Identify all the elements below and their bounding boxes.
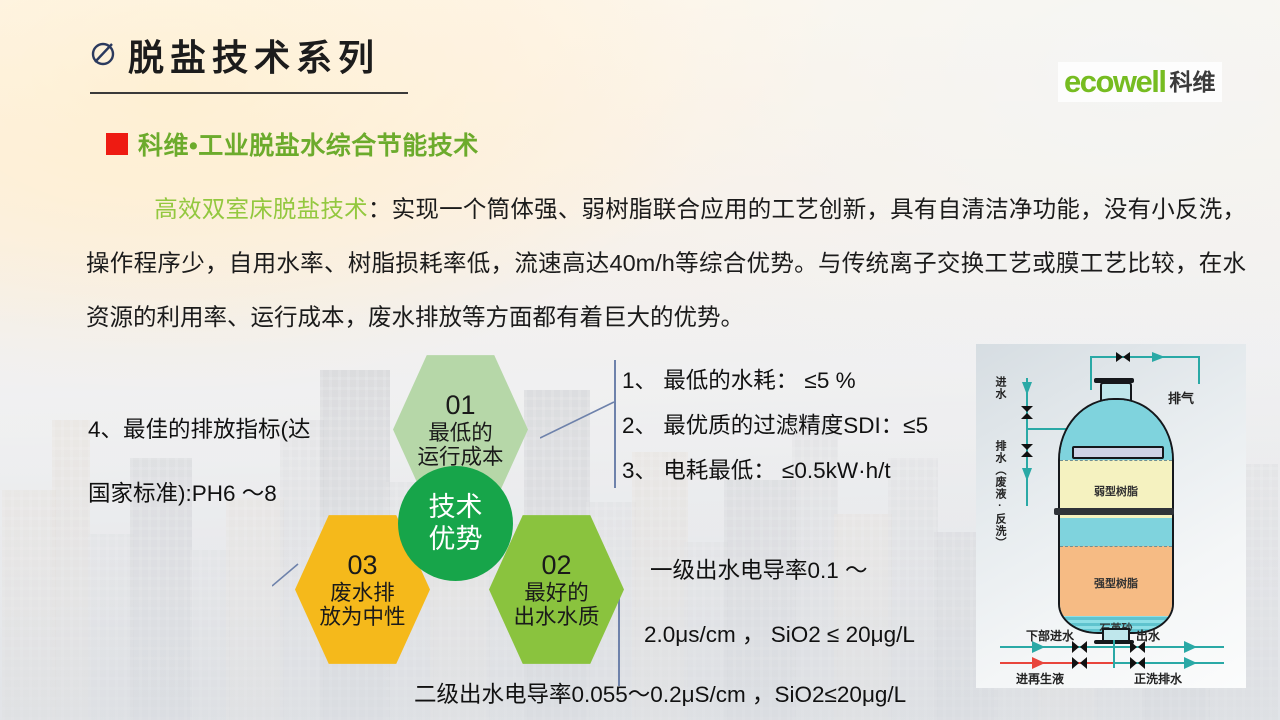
- hexagon-02-line1: 最好的: [524, 581, 589, 605]
- connector-line-03-diagonal: [272, 560, 300, 590]
- connector-line-01-diagonal: [540, 400, 620, 440]
- layer-mid-water: [1060, 518, 1172, 546]
- rinse-drain-label: 正洗排水: [1134, 670, 1182, 687]
- pressure-vessel: 弱型树脂 强型树脂 石英砂: [1058, 382, 1170, 630]
- body-paragraph: 高效双室床脱盐技术：实现一个筒体强、弱树脂联合应用的工艺创新，具有自清洁净功能，…: [86, 182, 1246, 344]
- right-list-item-2: 2、 最优质的过滤精度SDI：≤5: [622, 403, 928, 448]
- note-primary-conductivity-line2: 2.0μs/cm ， SiO2 ≤ 20μg/L: [644, 612, 915, 658]
- bottom-pipe-row2-regen: [1000, 662, 1114, 664]
- strong-resin-label: 强型树脂: [1060, 575, 1172, 591]
- hexagon-03-number: 03: [347, 550, 377, 580]
- hexagon-01-number: 01: [445, 390, 475, 420]
- layer-strong-resin: 强型树脂: [1060, 546, 1172, 617]
- feed-valve-1-icon: [1020, 406, 1034, 419]
- drain-valve-2-icon: [1020, 444, 1034, 457]
- hexagon-01-line1: 最低的: [428, 421, 493, 445]
- outlet-arrow-icon: [1184, 641, 1198, 653]
- feed-arrow-down-icon: [1021, 382, 1033, 396]
- left-note-group: 4、最佳的排放指标(达 国家标准):PH6 ～8: [88, 398, 311, 526]
- right-list-item-3: 3、 电耗最低： ≤0.5kW·h/t: [622, 448, 928, 493]
- vent-valve-icon: [1116, 351, 1130, 363]
- title-underline: [90, 92, 408, 94]
- right-list-item-1: 1、 最低的水耗： ≤5 %: [622, 358, 928, 403]
- hexagon-03-line1: 废水排: [330, 581, 395, 605]
- bottom-inlet-valve-icon: [1072, 641, 1088, 653]
- note-secondary-conductivity: 二级出水电导率0.055～0.2μS/cm ，SiO2≤20μg/L: [414, 672, 906, 718]
- bottom-inlet-label: 下部进水: [1026, 627, 1074, 644]
- rinse-arrow-icon: [1184, 657, 1198, 669]
- regen-inlet-label: 进再生液: [1016, 670, 1064, 687]
- vessel-shell: 弱型树脂 强型树脂 石英砂: [1058, 398, 1174, 634]
- red-square-bullet-icon: [106, 133, 128, 155]
- inlet-label: 进水: [992, 376, 1008, 400]
- page-title: 脱盐技术系列: [128, 29, 380, 81]
- logo-wordmark: ecowell: [1064, 65, 1166, 99]
- core-line1: 技术: [429, 492, 483, 523]
- hexagon-03-line2: 放为中性: [319, 605, 405, 629]
- drain-arrow-down-icon: [1021, 468, 1033, 482]
- vent-pipe-horizontal: [1090, 356, 1200, 358]
- section-subtitle-text: 科维•工业脱盐水综合节能技术: [138, 126, 479, 162]
- middle-distributor: [1054, 508, 1174, 515]
- weak-resin-label: 弱型树脂: [1060, 483, 1172, 499]
- vessel-diagram-panel: 排气 进水 排水（废液·反洗） 弱型树脂: [976, 344, 1246, 688]
- regen-valve-icon: [1072, 657, 1088, 669]
- slide-canvas: 脱盐技术系列 ecowell 科维 科维•工业脱盐水综合节能技术 高效双室床脱盐…: [0, 0, 1280, 720]
- left-note-line1: 4、最佳的排放指标(达: [88, 398, 311, 462]
- paragraph-highlight: 高效双室床脱盐技术: [154, 196, 368, 222]
- right-numbered-list: 1、 最低的水耗： ≤5 % 2、 最优质的过滤精度SDI：≤5 3、 电耗最低…: [622, 358, 928, 493]
- drain-label: 排水（废液·反洗）: [992, 440, 1008, 549]
- left-note-line2: 国家标准):PH6 ～8: [88, 462, 311, 526]
- vent-pipe-down: [1198, 356, 1200, 384]
- vent-flow-arrow-icon: [1152, 351, 1166, 363]
- brand-logo: ecowell 科维: [1058, 62, 1222, 102]
- hexagon-02-line2: 出水水质: [513, 605, 599, 629]
- logo-wordmark-cn: 科维: [1170, 65, 1216, 99]
- rinse-valve-icon: [1130, 657, 1146, 669]
- hexagon-core-circle[interactable]: 技术 优势: [398, 466, 513, 581]
- core-line2: 优势: [429, 524, 483, 555]
- section-subtitle: 科维•工业脱盐水综合节能技术: [106, 126, 479, 162]
- hexagon-02-number: 02: [541, 550, 571, 580]
- top-distributor: [1072, 446, 1164, 459]
- slashed-circle-icon: [88, 38, 118, 68]
- regen-arrow-icon: [1032, 657, 1046, 669]
- left-feed-pipe: [1026, 378, 1028, 506]
- note-primary-conductivity-line1: 一级出水电导率0.1 ～: [650, 548, 868, 594]
- outlet-label: 出水: [1136, 627, 1160, 644]
